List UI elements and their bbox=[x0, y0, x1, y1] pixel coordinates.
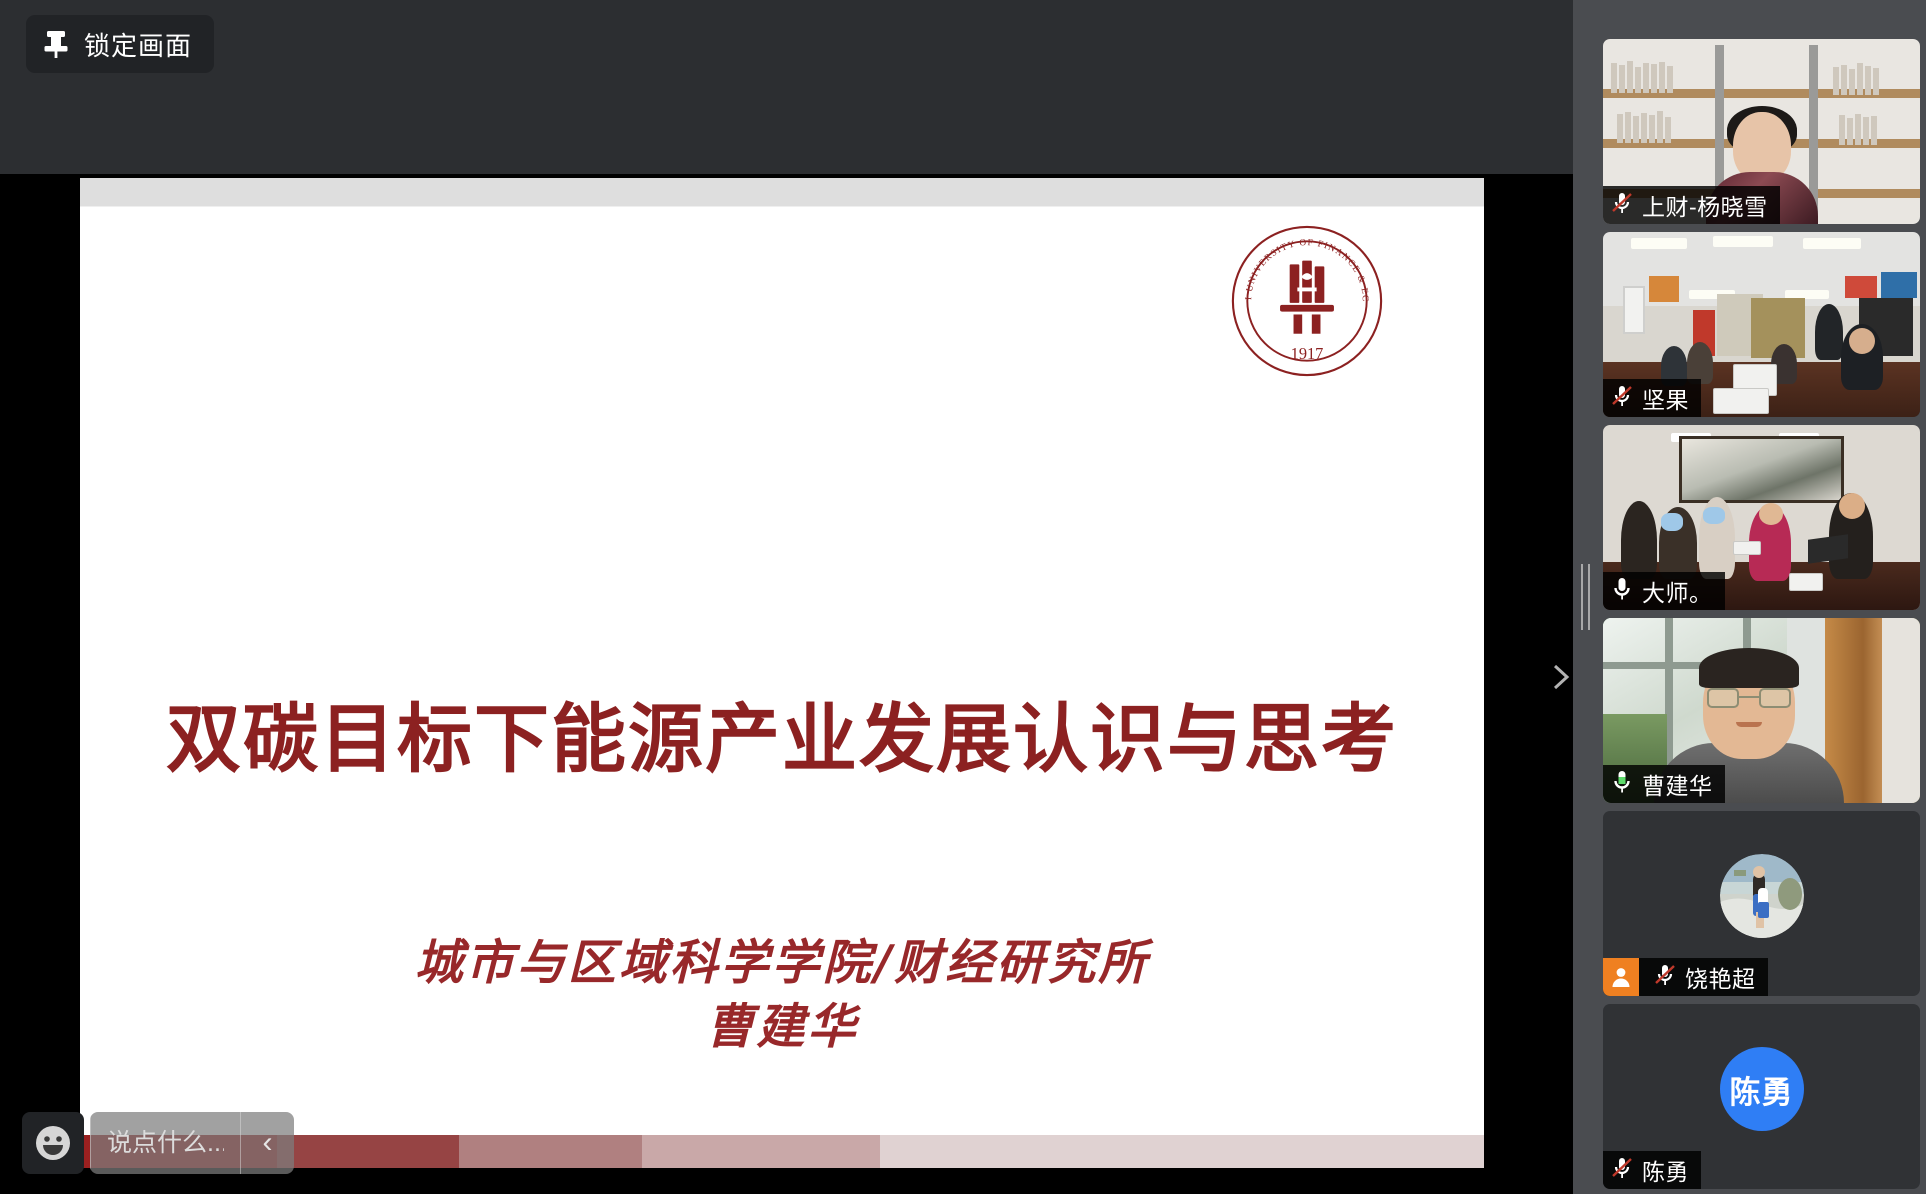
microphone-muted-icon bbox=[1652, 962, 1678, 993]
participant-tile[interactable]: 陈勇 陈勇 bbox=[1603, 1004, 1920, 1189]
participant-tile[interactable]: 坚果 bbox=[1603, 232, 1920, 417]
microphone-speaking-icon bbox=[1609, 768, 1635, 801]
shared-screen-stage[interactable]: SHANGHAI UNIVERSITY OF FINANCE & ECONOMI… bbox=[0, 174, 1573, 1194]
slide-subtitle: 城市与区域科学学院/财经研究所 曹建华 bbox=[80, 933, 1484, 1057]
expand-panel-button[interactable] bbox=[1548, 655, 1574, 699]
microphone-muted-icon bbox=[1609, 383, 1635, 414]
microphone-muted-icon bbox=[1609, 190, 1635, 221]
slide-subtitle-line2: 曹建华 bbox=[80, 997, 1484, 1057]
chat-bar: ‹ bbox=[22, 1112, 294, 1174]
participant-nameplate: 大师。 bbox=[1603, 572, 1725, 610]
participant-name: 大师。 bbox=[1642, 574, 1713, 608]
emoji-smiley-icon[interactable] bbox=[22, 1112, 84, 1174]
chat-input[interactable] bbox=[90, 1112, 240, 1174]
sufe-seal-logo: SHANGHAI UNIVERSITY OF FINANCE & ECONOMI… bbox=[1230, 224, 1384, 378]
participant-name: 上财-杨晓雪 bbox=[1642, 188, 1768, 222]
participant-nameplate: 陈勇 bbox=[1603, 1151, 1701, 1189]
slide-subtitle-line1: 城市与区域科学学院/财经研究所 bbox=[415, 935, 1150, 991]
slide-title: 双碳目标下能源产业发展认识与思考 bbox=[80, 678, 1484, 787]
avatar: 陈勇 bbox=[1720, 1047, 1804, 1131]
chat-input-wrap: ‹ bbox=[90, 1112, 294, 1174]
participant-tile[interactable]: 饶艳超 bbox=[1603, 811, 1920, 996]
lock-screen-label: 锁定画面 bbox=[84, 26, 192, 63]
presentation-slide: SHANGHAI UNIVERSITY OF FINANCE & ECONOMI… bbox=[80, 178, 1484, 1168]
participant-name: 陈勇 bbox=[1642, 1153, 1689, 1187]
microphone-on-icon bbox=[1609, 575, 1635, 608]
chat-collapse-button[interactable]: ‹ bbox=[240, 1112, 294, 1174]
participant-name: 曹建华 bbox=[1642, 767, 1713, 801]
host-person-icon bbox=[1603, 958, 1639, 996]
lock-screen-button[interactable]: 锁定画面 bbox=[26, 15, 214, 73]
pin-icon bbox=[42, 29, 70, 59]
participant-name: 饶艳超 bbox=[1685, 960, 1756, 994]
participant-strip[interactable]: 上财-杨晓雪 bbox=[1597, 0, 1926, 1194]
participant-name: 坚果 bbox=[1642, 381, 1689, 415]
participant-nameplate: 上财-杨晓雪 bbox=[1603, 186, 1780, 224]
participant-nameplate: 曹建华 bbox=[1603, 765, 1725, 803]
top-toolbar: 锁定画面 bbox=[0, 0, 1573, 174]
panel-drag-handle[interactable] bbox=[1573, 0, 1597, 1194]
participant-tile[interactable]: 大师。 bbox=[1603, 425, 1920, 610]
participant-tile[interactable]: 上财-杨晓雪 bbox=[1603, 39, 1920, 224]
participant-nameplate: 饶艳超 bbox=[1603, 958, 1768, 996]
participant-nameplate: 坚果 bbox=[1603, 379, 1701, 417]
participant-tile-active-speaker[interactable]: 曹建华 bbox=[1603, 618, 1920, 803]
slide-top-band bbox=[80, 178, 1484, 207]
svg-text:1917: 1917 bbox=[1291, 344, 1324, 363]
microphone-muted-icon bbox=[1609, 1155, 1635, 1186]
avatar bbox=[1720, 854, 1804, 938]
meeting-window: 锁定画面 SHANGHAI UNIVERSITY OF FINANCE & EC… bbox=[0, 0, 1926, 1194]
